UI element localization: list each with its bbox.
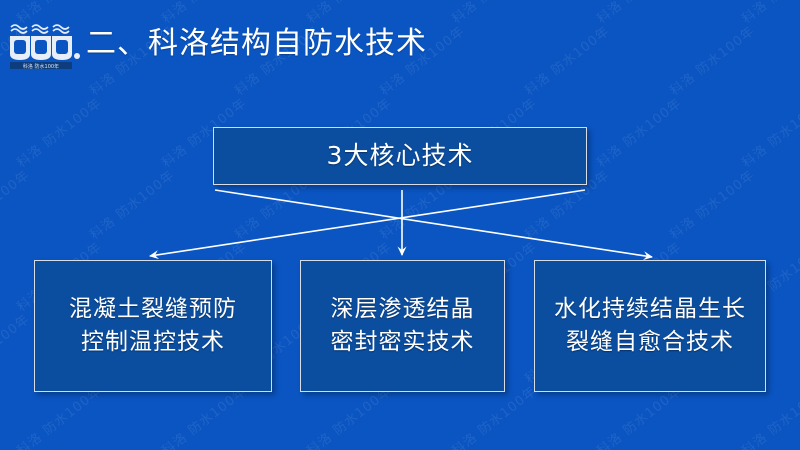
label-line-2: 密封密实技术 [331, 329, 475, 355]
watermark-text: 科洛 防水100年 [665, 165, 758, 243]
slide-canvas: 科洛 防水100年科洛 防水100年科洛 防水100年科洛 防水100年科洛 防… [0, 0, 800, 450]
page-title: 二、科洛结构自防水技术 [86, 24, 427, 64]
watermark-text: 科洛 防水100年 [85, 165, 178, 243]
label-line-1: 水化持续结晶生长 [554, 296, 746, 322]
label-line-2: 控制温控技术 [81, 329, 225, 355]
slide-header: 科洛 防水100年 二、科洛结构自防水技术 [0, 0, 800, 84]
diagram-node-concrete-crack-prevention[interactable]: 混凝土裂缝预防 控制温控技术 [34, 260, 272, 392]
diagram-node-label: 混凝土裂缝预防 控制温控技术 [63, 293, 243, 359]
diagram-node-label: 深层渗透结晶 密封密实技术 [325, 293, 481, 359]
diagram-node-label: 水化持续结晶生长 裂缝自愈合技术 [548, 293, 752, 359]
diagram-node-self-healing-crystal-growth[interactable]: 水化持续结晶生长 裂缝自愈合技术 [534, 260, 766, 392]
label-line-1: 混凝土裂缝预防 [69, 296, 237, 322]
watermark-text: 科洛 防水100年 [12, 93, 105, 171]
logo-tagline: 科洛 防水100年 [23, 63, 59, 70]
label-line-1: 深层渗透结晶 [331, 296, 475, 322]
label-line-2: 裂缝自愈合技术 [566, 329, 734, 355]
watermark-text: 科洛 防水100年 [0, 165, 33, 243]
arrow-to-left-branch [150, 190, 585, 256]
watermark-text: 科洛 防水100年 [737, 93, 800, 171]
keluo-100-logo: 科洛 防水100年 [8, 18, 88, 70]
diagram-root-label: 3大核心技术 [327, 141, 474, 171]
arrow-to-right-branch [215, 190, 652, 257]
diagram-root-node[interactable]: 3大核心技术 [213, 127, 587, 185]
diagram-node-deep-penetration-crystallization[interactable]: 深层渗透结晶 密封密实技术 [300, 260, 505, 392]
watermark-text: 科洛 防水100年 [0, 309, 33, 387]
watermark-text: 科洛 防水100年 [592, 93, 685, 171]
